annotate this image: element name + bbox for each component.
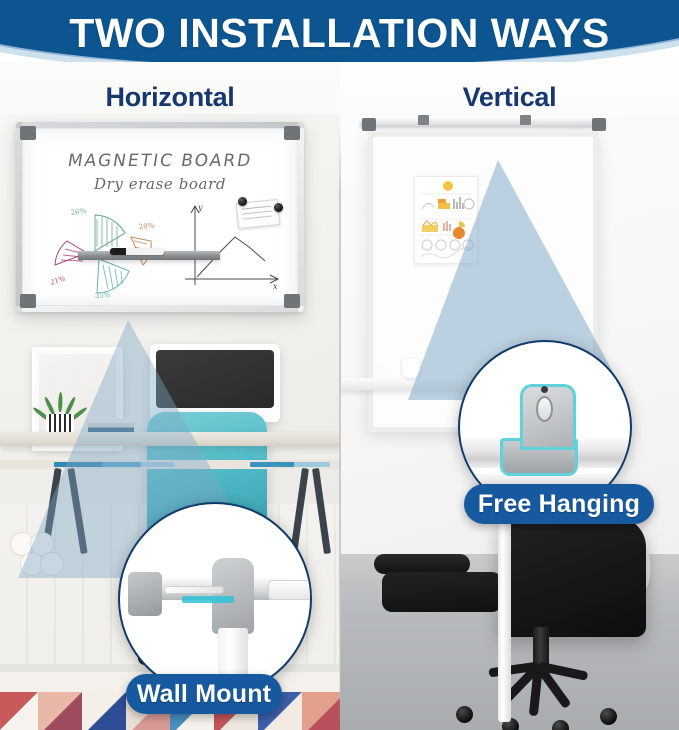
panel-divider xyxy=(339,124,341,724)
free-hanging-label: Free Hanging xyxy=(478,490,640,519)
panel-vertical: Vertical xyxy=(340,62,679,730)
frame-corner xyxy=(284,294,300,308)
free-hanging-label-pill: Free Hanging xyxy=(464,484,654,524)
hook-pin xyxy=(541,386,548,393)
hook-ring xyxy=(536,396,553,422)
chair-armrest xyxy=(374,554,470,574)
panels-container: Horizontal MAGNETIC BOARD Dry erase boar… xyxy=(0,62,679,730)
easel-corner-cap xyxy=(592,118,606,131)
horizontal-whiteboard: MAGNETIC BOARD Dry erase board xyxy=(16,122,304,312)
frame-corner xyxy=(20,126,36,140)
wall-anchor xyxy=(268,580,312,600)
insert-direction-arrow xyxy=(182,596,234,603)
panel-heading-vertical: Vertical xyxy=(340,82,679,113)
wall-mount-label-pill: Wall Mount xyxy=(126,674,282,714)
wall-mount-callout-bubble xyxy=(118,502,312,696)
frame-corner xyxy=(284,126,300,140)
dry-erase-marker xyxy=(110,248,164,255)
mounting-screw xyxy=(164,586,224,594)
panel-heading-horizontal: Horizontal xyxy=(0,82,340,113)
hanging-hook-icon xyxy=(418,115,429,125)
chair-seat xyxy=(382,572,502,612)
easel-top-rail xyxy=(360,120,606,127)
wall-mount-label: Wall Mount xyxy=(137,680,271,709)
hanging-hook-icon xyxy=(520,115,531,125)
office-chair-back xyxy=(498,517,646,637)
chair-star-base xyxy=(450,662,640,730)
page-title: TWO INSTALLATION WAYS xyxy=(0,10,679,56)
infographic-page: TWO INSTALLATION WAYS Horizontal MAGNETI… xyxy=(0,0,679,730)
panel-horizontal: Horizontal MAGNETIC BOARD Dry erase boar… xyxy=(0,62,340,730)
easel-corner-cap xyxy=(362,118,376,131)
frame-corner xyxy=(20,294,36,308)
end-cap xyxy=(128,572,162,616)
whiteboard-frame xyxy=(16,122,304,312)
